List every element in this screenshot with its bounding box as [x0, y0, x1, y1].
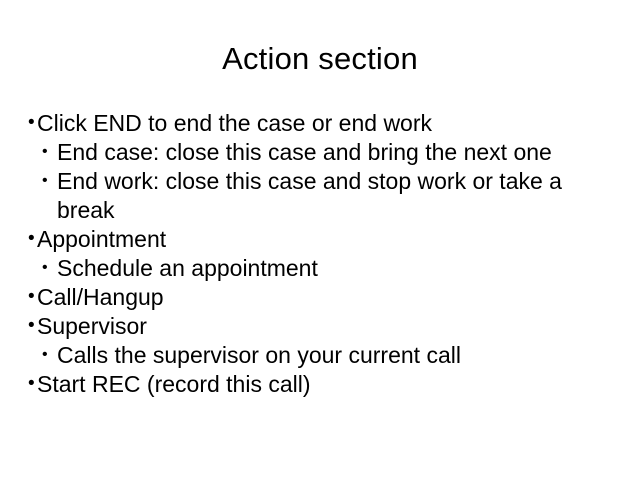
bullet-icon: • [42, 253, 57, 282]
list-item-label: Appointment [37, 225, 618, 254]
bullet-icon: • [42, 166, 57, 195]
list-item-label: End case: close this case and bring the … [57, 138, 618, 167]
list-item: • End work: close this case and stop wor… [28, 167, 618, 225]
list-item-label: Start REC (record this call) [37, 370, 618, 399]
list-item: • End case: close this case and bring th… [28, 138, 618, 167]
list-item: • Click END to end the case or end work [28, 109, 618, 138]
list-item-label: End work: close this case and stop work … [57, 167, 618, 225]
bullet-icon: • [28, 369, 37, 398]
bullet-icon: • [42, 340, 57, 369]
bullet-icon: • [28, 311, 37, 340]
list-item-label: Supervisor [37, 312, 618, 341]
list-item-label: Calls the supervisor on your current cal… [57, 341, 618, 370]
list-item-label: Call/Hangup [37, 283, 618, 312]
bullet-list: • Click END to end the case or end work … [28, 109, 618, 399]
list-item: • Schedule an appointment [28, 254, 618, 283]
list-item: • Call/Hangup [28, 283, 618, 312]
list-item-label: Click END to end the case or end work [37, 109, 618, 138]
page-title: Action section [0, 41, 640, 77]
bullet-icon: • [28, 108, 37, 137]
list-item: • Start REC (record this call) [28, 370, 618, 399]
list-item: • Appointment [28, 225, 618, 254]
list-item: • Calls the supervisor on your current c… [28, 341, 618, 370]
list-item-label: Schedule an appointment [57, 254, 618, 283]
bullet-icon: • [28, 282, 37, 311]
slide-canvas: Action section • Click END to end the ca… [0, 0, 640, 480]
bullet-icon: • [42, 137, 57, 166]
bullet-icon: • [28, 224, 37, 253]
list-item: • Supervisor [28, 312, 618, 341]
